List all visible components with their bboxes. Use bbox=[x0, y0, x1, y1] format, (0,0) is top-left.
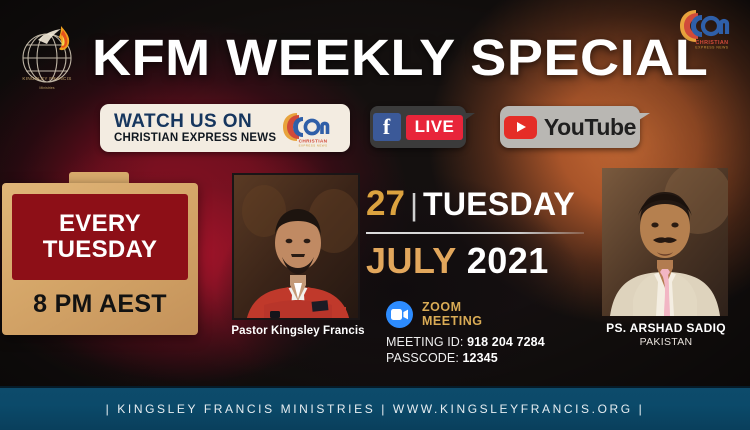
zoom-meeting-header: ZOOM MEETING bbox=[386, 300, 616, 328]
zoom-passcode-row: PASSCODE: 12345 bbox=[386, 351, 616, 365]
watch-us-on-line2: CHRISTIAN EXPRESS NEWS bbox=[114, 132, 280, 145]
zoom-label-line1: ZOOM bbox=[422, 300, 482, 314]
facebook-icon: f bbox=[373, 113, 401, 141]
footer-text[interactable]: | KINGSLEY FRANCIS MINISTRIES | WWW.KING… bbox=[106, 402, 645, 416]
event-day-number: 27 bbox=[366, 186, 405, 221]
watch-us-on-badge[interactable]: WATCH US ON CHRISTIAN EXPRESS NEWS CHRIS… bbox=[100, 104, 350, 152]
youtube-label: YouTube bbox=[544, 114, 636, 141]
youtube-badge[interactable]: YouTube bbox=[500, 106, 640, 148]
speaker-2-country: PAKISTAN bbox=[586, 336, 746, 348]
zoom-meeting-label: ZOOM MEETING bbox=[422, 300, 482, 328]
speaker-1-name: Pastor Kingsley Francis bbox=[214, 325, 382, 337]
logo-caption: KINGSLEY FRANCIS bbox=[22, 76, 71, 81]
zoom-meeting-id-row: MEETING ID: 918 204 7284 bbox=[386, 335, 616, 349]
schedule-time: 8 PM AEST bbox=[12, 290, 188, 319]
cen-logo-icon: CHRISTIAN EXPRESS NEWS bbox=[280, 109, 342, 147]
page-title: KFM WEEKLY SPECIAL bbox=[92, 26, 692, 88]
zoom-passcode-label: PASSCODE: bbox=[386, 351, 459, 365]
speaker-2-name: PS. ARSHAD SADIQ bbox=[586, 321, 746, 335]
schedule-line1: EVERY bbox=[59, 211, 141, 237]
footer-bar: | KINGSLEY FRANCIS MINISTRIES | WWW.KING… bbox=[0, 386, 750, 430]
globe-flame-icon: KINGSLEY FRANCIS Ministries bbox=[14, 16, 88, 94]
event-date-row-1: 27 | TUESDAY bbox=[366, 186, 588, 221]
zoom-meeting-block: ZOOM MEETING MEETING ID: 918 204 7284 PA… bbox=[386, 300, 616, 365]
event-date-separator: | bbox=[410, 189, 418, 220]
event-day-name: TUESDAY bbox=[423, 188, 575, 220]
event-date-block: 27 | TUESDAY JULY 2021 bbox=[366, 186, 588, 279]
speaker-2-name-block: PS. ARSHAD SADIQ PAKISTAN bbox=[586, 321, 746, 348]
channel-badge-row: WATCH US ON CHRISTIAN EXPRESS NEWS CHRIS… bbox=[0, 102, 750, 158]
watch-us-on-text: WATCH US ON CHRISTIAN EXPRESS NEWS bbox=[114, 112, 280, 145]
pastor-kingsley-francis-photo bbox=[232, 173, 360, 320]
event-date-row-2: JULY 2021 bbox=[366, 243, 588, 279]
event-month: JULY bbox=[366, 243, 457, 279]
zoom-passcode-value[interactable]: 12345 bbox=[463, 351, 498, 365]
recurring-schedule-plaque: EVERY TUESDAY 8 PM AEST bbox=[2, 183, 198, 335]
facebook-live-badge[interactable]: f LIVE bbox=[370, 106, 466, 148]
youtube-play-icon bbox=[504, 116, 537, 139]
event-date-divider bbox=[366, 232, 584, 234]
page-title-text: KFM WEEKLY SPECIAL bbox=[92, 32, 708, 83]
poster-canvas: KINGSLEY FRANCIS Ministries CHRISTIAN EX… bbox=[0, 0, 750, 430]
svg-text:EXPRESS NEWS: EXPRESS NEWS bbox=[299, 143, 328, 147]
zoom-meeting-id-value[interactable]: 918 204 7284 bbox=[467, 335, 545, 349]
zoom-meeting-id-label: MEETING ID: bbox=[386, 335, 464, 349]
schedule-line2: TUESDAY bbox=[43, 237, 158, 263]
facebook-live-label: LIVE bbox=[406, 115, 464, 140]
zoom-label-line2: MEETING bbox=[422, 314, 482, 328]
event-year: 2021 bbox=[467, 243, 549, 279]
logo-subcaption: Ministries bbox=[39, 86, 54, 90]
zoom-camera-icon bbox=[386, 301, 413, 328]
ministry-logo: KINGSLEY FRANCIS Ministries bbox=[14, 16, 88, 98]
watch-us-on-line1: WATCH US ON bbox=[114, 112, 280, 132]
ps-arshad-sadiq-photo bbox=[602, 168, 728, 316]
plaque-inner-panel: EVERY TUESDAY bbox=[12, 194, 188, 280]
